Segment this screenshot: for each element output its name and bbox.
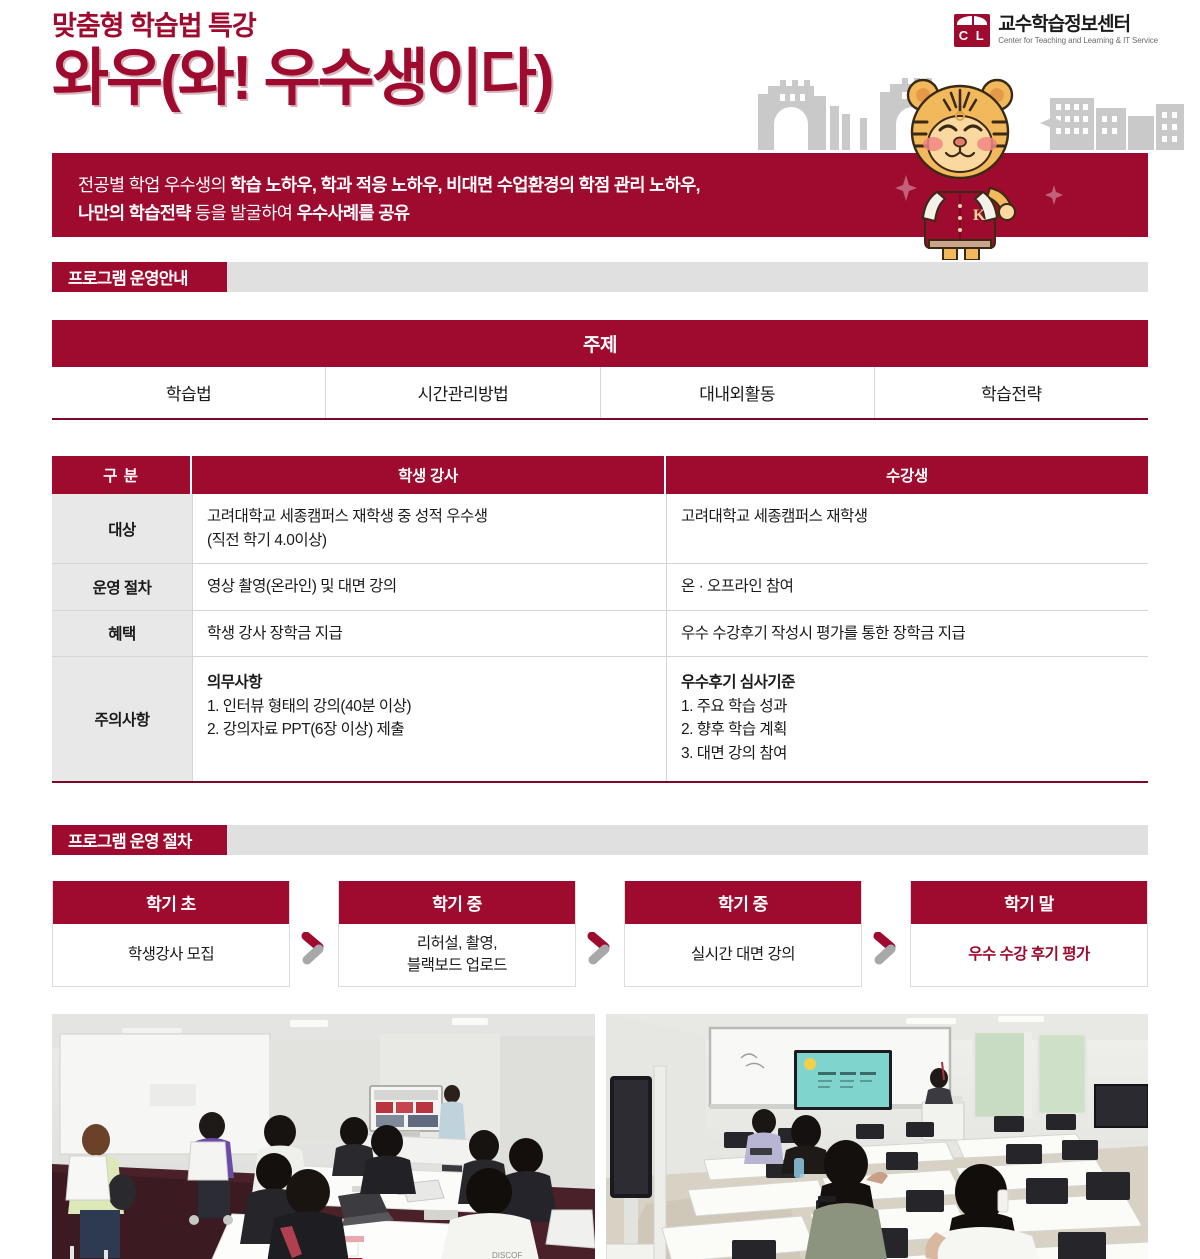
svg-text:DISCOF: DISCOF	[492, 1251, 522, 1259]
flow-step-body: 리허설, 촬영, 블랙보드 업로드	[339, 924, 575, 986]
row-attendee: 우수후기 심사기준 1. 주요 학습 성과 2. 향후 학습 계획 3. 대면 …	[666, 657, 1148, 781]
flow-step-2: 학기 중 리허설, 촬영, 블랙보드 업로드	[338, 881, 576, 987]
row-student-lecturer: 학생 강사 장학금 지급	[192, 611, 666, 657]
table-row: 운영 절차 영상 촬영(온라인) 및 대면 강의 온 · 오프라인 참여	[52, 564, 1148, 611]
cell-line: 2. 강의자료 PPT(6장 이상) 제출	[207, 718, 652, 742]
poster-header: 맞춤형 학습법 특강 와우(와! 우수생이다) C L 교수학습정보센터 Cen…	[0, 0, 1200, 262]
poster-title: 와우(와! 우수생이다)	[52, 46, 552, 113]
sparkle-icon-small	[1045, 185, 1063, 205]
logo-name-korean: 교수학습정보센터	[998, 15, 1158, 35]
row-label: 대상	[52, 494, 192, 563]
section-header-program-info: 프로그램 운영안내	[52, 262, 1148, 292]
row-student-lecturer: 영상 촬영(온라인) 및 대면 강의	[192, 564, 666, 610]
topic-cell-1: 학습법	[52, 367, 325, 418]
cell-line: 3. 대면 강의 참여	[681, 742, 1134, 766]
photo-classroom	[606, 1014, 1149, 1259]
topic-table-header: 주제	[52, 320, 1148, 367]
chevron-right-icon	[301, 932, 327, 966]
chevron-right-icon	[587, 932, 613, 966]
section-bar	[227, 262, 1148, 292]
chevron-right-icon	[873, 932, 899, 966]
row-student-lecturer: 고려대학교 세종캠퍼스 재학생 중 성적 우수생 (직전 학기 4.0이상)	[192, 494, 666, 563]
tiger-mascot-icon: K	[895, 60, 1025, 260]
row-label: 운영 절차	[52, 564, 192, 610]
flow-step-1: 학기 초 학생강사 모집	[52, 881, 290, 987]
cell-line: 온 · 오프라인 참여	[681, 575, 1134, 599]
topic-table: 주제 학습법 시간관리방법 대내외활동 학습전략	[52, 320, 1148, 420]
photo-gallery: DISCOF Quality Assurance	[52, 1014, 1148, 1259]
row-label: 혜택	[52, 611, 192, 657]
flow-step-3: 학기 중 실시간 대면 강의	[624, 881, 862, 987]
table-row: 혜택 학생 강사 장학금 지급 우수 수강후기 작성시 평가를 통한 장학금 지…	[52, 611, 1148, 658]
book-logo-icon: C L	[954, 14, 990, 47]
section-header-program-process: 프로그램 운영 절차	[52, 825, 1148, 855]
flow-arrow-3	[862, 881, 910, 987]
flow-arrow-2	[576, 881, 624, 987]
section-label-program-info: 프로그램 운영안내	[52, 262, 227, 292]
title-block: 맞춤형 학습법 특강 와우(와! 우수생이다)	[52, 10, 552, 113]
photo-seminar-room: DISCOF Quality Assurance	[52, 1014, 595, 1259]
sparkle-icon-right	[1040, 108, 1066, 138]
process-flow: 학기 초 학생강사 모집 학기 중 리허설, 촬영, 블랙보드 업로드 학기 중…	[52, 881, 1148, 987]
flow-step-period: 학기 중	[625, 881, 861, 924]
flow-step-body: 실시간 대면 강의	[625, 924, 861, 986]
flow-step-body: 학생강사 모집	[53, 924, 289, 986]
detail-header-category: 구 분	[52, 456, 192, 494]
cell-line: 고려대학교 세종캠퍼스 재학생 중 성적 우수생	[207, 505, 652, 529]
row-label: 주의사항	[52, 657, 192, 781]
cell-subtitle: 의무사항	[207, 671, 652, 695]
table-row: 대상 고려대학교 세종캠퍼스 재학생 중 성적 우수생 (직전 학기 4.0이상…	[52, 494, 1148, 564]
row-student-lecturer: 의무사항 1. 인터뷰 형태의 강의(40분 이상) 2. 강의자료 PPT(6…	[192, 657, 666, 781]
flow-step-period: 학기 초	[53, 881, 289, 924]
flow-step-body: 우수 수강 후기 평가	[911, 924, 1147, 986]
section-bar	[227, 825, 1148, 855]
flow-step-4: 학기 말 우수 수강 후기 평가	[910, 881, 1148, 987]
logo-name-english: Center for Teaching and Learning & IT Se…	[998, 37, 1158, 45]
cell-line: 1. 인터뷰 형태의 강의(40분 이상)	[207, 695, 652, 719]
cell-line: 학생 강사 장학금 지급	[207, 622, 652, 646]
table-row: 주의사항 의무사항 1. 인터뷰 형태의 강의(40분 이상) 2. 강의자료 …	[52, 657, 1148, 781]
detail-header-student-lecturer: 학생 강사	[192, 456, 666, 494]
topic-cell-2: 시간관리방법	[325, 367, 599, 418]
cell-line: 영상 촬영(온라인) 및 대면 강의	[207, 575, 652, 599]
topic-table-row: 학습법 시간관리방법 대내외활동 학습전략	[52, 367, 1148, 418]
row-attendee: 온 · 오프라인 참여	[666, 564, 1148, 610]
flow-step-period: 학기 말	[911, 881, 1147, 924]
poster-root: 맞춤형 학습법 특강 와우(와! 우수생이다) C L 교수학습정보센터 Cen…	[0, 0, 1200, 1259]
cell-subtitle: 우수후기 심사기준	[681, 671, 1134, 695]
cell-line: 고려대학교 세종캠퍼스 재학생	[681, 505, 1134, 529]
detail-table: 구 분 학생 강사 수강생 대상 고려대학교 세종캠퍼스 재학생 중 성적 우수…	[52, 456, 1148, 783]
row-attendee: 우수 수강후기 작성시 평가를 통한 장학금 지급	[666, 611, 1148, 657]
sparkle-icon-left	[895, 175, 917, 201]
cell-line: 우수 수강후기 작성시 평가를 통한 장학금 지급	[681, 622, 1134, 646]
detail-header-attendee: 수강생	[666, 456, 1148, 494]
ctl-logo: C L 교수학습정보센터 Center for Teaching and Lea…	[954, 14, 1158, 47]
logo-text: 교수학습정보센터 Center for Teaching and Learnin…	[998, 15, 1158, 45]
svg-text:K: K	[973, 207, 986, 224]
cell-line: 2. 향후 학습 계획	[681, 718, 1134, 742]
poster-subtitle: 맞춤형 학습법 특강	[52, 10, 552, 42]
section-label-program-process: 프로그램 운영 절차	[52, 825, 227, 855]
topic-cell-4: 학습전략	[874, 367, 1148, 418]
flow-step-period: 학기 중	[339, 881, 575, 924]
cell-line: 1. 주요 학습 성과	[681, 695, 1134, 719]
topic-cell-3: 대내외활동	[600, 367, 874, 418]
row-attendee: 고려대학교 세종캠퍼스 재학생	[666, 494, 1148, 563]
cell-line: (직전 학기 4.0이상)	[207, 529, 652, 553]
logo-mark-letters: C L	[959, 28, 986, 43]
flow-arrow-1	[290, 881, 338, 987]
detail-table-header-row: 구 분 학생 강사 수강생	[52, 456, 1148, 494]
